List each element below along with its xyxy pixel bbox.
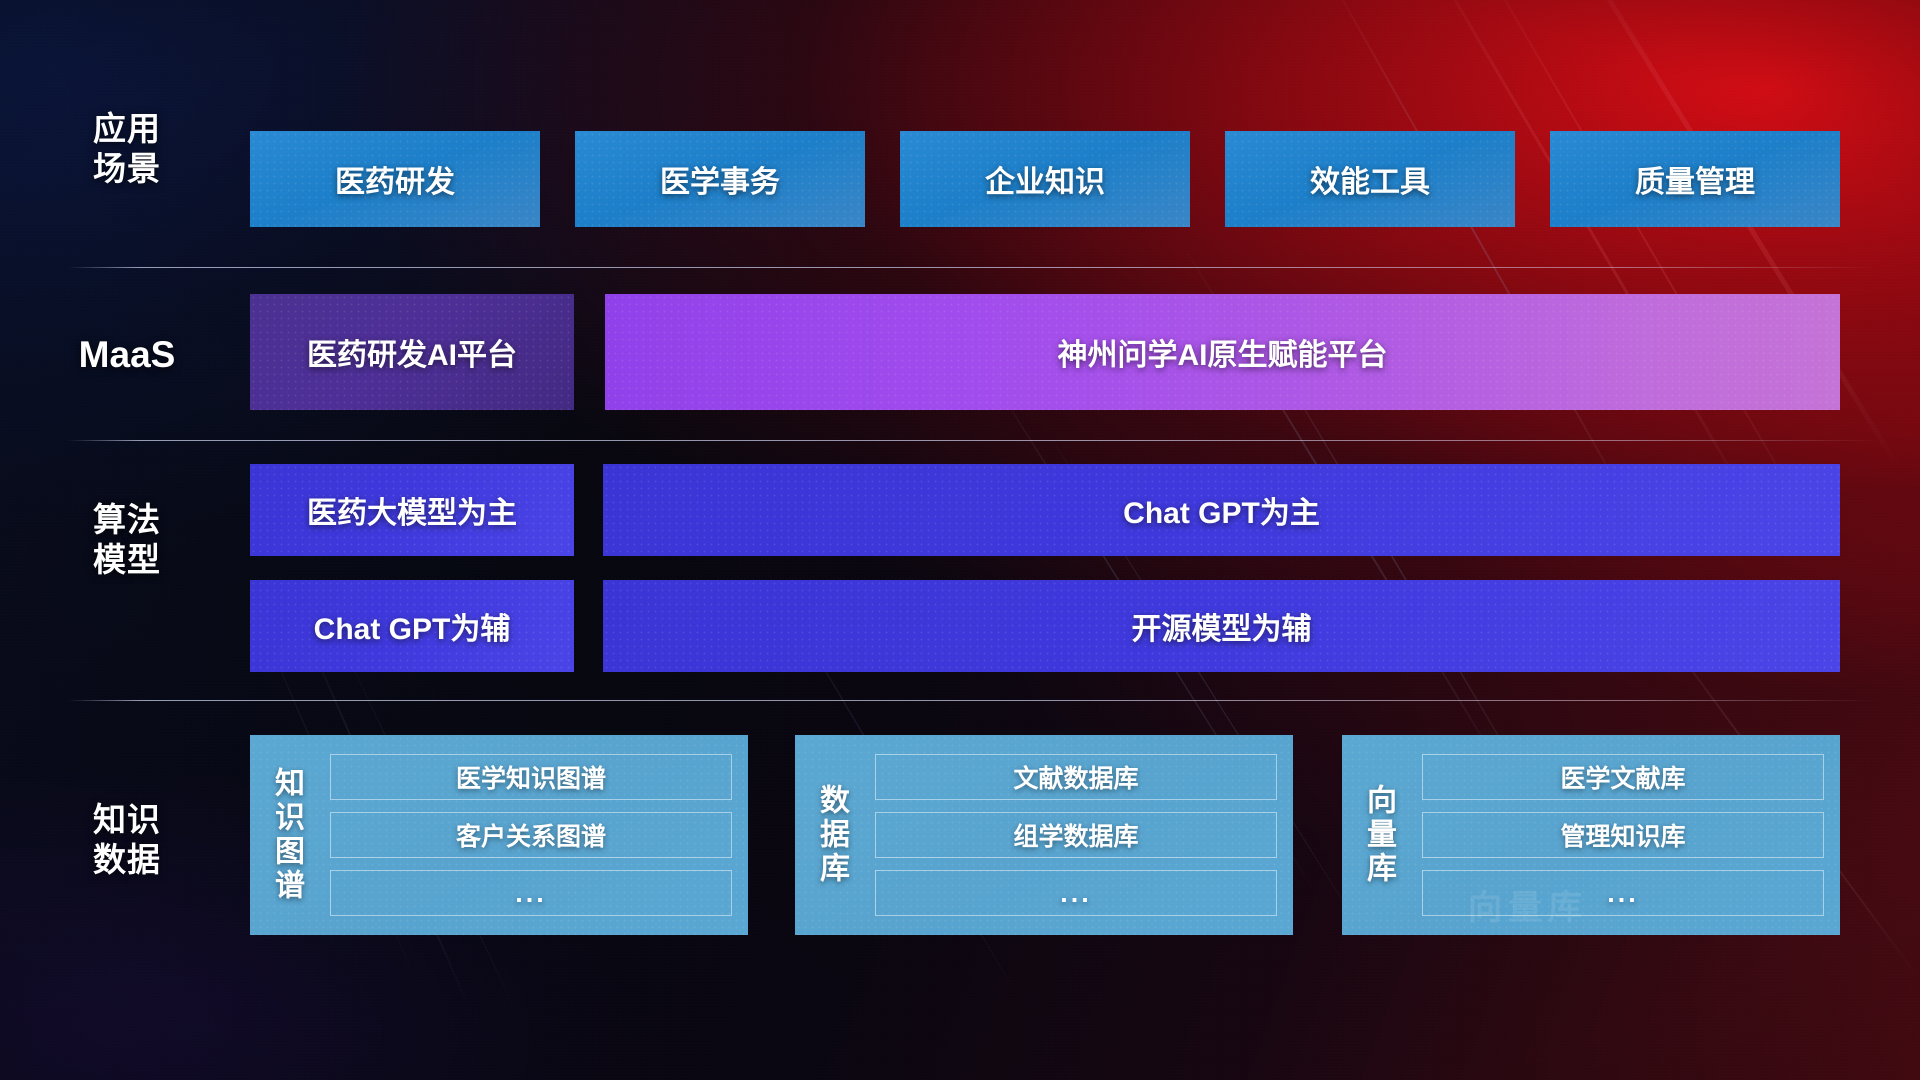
knowledge-panel-items: 医学知识图谱 客户关系图谱 ...: [322, 735, 748, 935]
knowledge-panel-database[interactable]: 数据库 文献数据库 组学数据库 ...: [795, 735, 1293, 935]
app-card-efficiency-tools[interactable]: 效能工具: [1225, 131, 1515, 227]
app-card-label: 医学事务: [660, 157, 780, 201]
knowledge-item-more[interactable]: ...: [330, 870, 732, 916]
knowledge-item[interactable]: 管理知识库: [1422, 812, 1824, 858]
algo-card-chatgpt-secondary[interactable]: Chat GPT为辅: [250, 580, 574, 672]
app-card-enterprise-knowledge[interactable]: 企业知识: [900, 131, 1190, 227]
knowledge-item[interactable]: 医学文献库: [1422, 754, 1824, 800]
app-card-label: 效能工具: [1310, 157, 1430, 201]
row-divider-1: [68, 267, 1878, 268]
architecture-diagram: 应用 场景 医药研发 医学事务 企业知识 效能工具 质量管理 MaaS 医药研发…: [0, 0, 1920, 1080]
app-card-label: 企业知识: [985, 157, 1105, 201]
algo-card-label: 医药大模型为主: [307, 488, 517, 532]
app-card-label: 质量管理: [1635, 157, 1755, 201]
knowledge-item-more[interactable]: ...: [875, 870, 1277, 916]
row-label-application-scenarios: 应用 场景: [62, 109, 192, 189]
app-card-medical-affairs[interactable]: 医学事务: [575, 131, 865, 227]
knowledge-item[interactable]: 客户关系图谱: [330, 812, 732, 858]
algo-card-opensource-secondary[interactable]: 开源模型为辅: [603, 580, 1840, 672]
row-label-algorithm-models: 算法 模型: [62, 500, 192, 580]
algo-card-label: Chat GPT为主: [1123, 488, 1320, 532]
knowledge-item-more[interactable]: ...: [1422, 870, 1824, 916]
row-label-maas: MaaS: [62, 335, 192, 375]
app-card-quality-management[interactable]: 质量管理: [1550, 131, 1840, 227]
knowledge-panel-title: 向量库: [1342, 735, 1414, 935]
maas-card-medicine-ai-platform[interactable]: 医药研发AI平台: [250, 294, 574, 410]
maas-card-label: 神州问学AI原生赋能平台: [1058, 330, 1388, 374]
knowledge-panel-title: 知识图谱: [250, 735, 322, 935]
maas-card-shenzhou-wenxue-platform[interactable]: 神州问学AI原生赋能平台: [605, 294, 1840, 410]
algo-card-chatgpt-primary[interactable]: Chat GPT为主: [603, 464, 1840, 556]
algo-card-medicine-llm-primary[interactable]: 医药大模型为主: [250, 464, 574, 556]
knowledge-item[interactable]: 医学知识图谱: [330, 754, 732, 800]
knowledge-panel-title: 数据库: [795, 735, 867, 935]
maas-card-label: 医药研发AI平台: [307, 330, 517, 374]
knowledge-item[interactable]: 组学数据库: [875, 812, 1277, 858]
knowledge-panel-vector-store[interactable]: 向量库 医学文献库 管理知识库 ...: [1342, 735, 1840, 935]
row-divider-2: [68, 440, 1878, 441]
algo-card-label: Chat GPT为辅: [314, 604, 511, 648]
row-label-knowledge-data: 知识 数据: [62, 800, 192, 880]
algo-card-label: 开源模型为辅: [1132, 604, 1312, 648]
row-divider-3: [68, 700, 1878, 701]
knowledge-panel-items: 医学文献库 管理知识库 ...: [1414, 735, 1840, 935]
knowledge-panel-items: 文献数据库 组学数据库 ...: [867, 735, 1293, 935]
knowledge-panel-knowledge-graph[interactable]: 知识图谱 医学知识图谱 客户关系图谱 ...: [250, 735, 748, 935]
app-card-medicine-rd[interactable]: 医药研发: [250, 131, 540, 227]
knowledge-item[interactable]: 文献数据库: [875, 754, 1277, 800]
app-card-label: 医药研发: [335, 157, 455, 201]
